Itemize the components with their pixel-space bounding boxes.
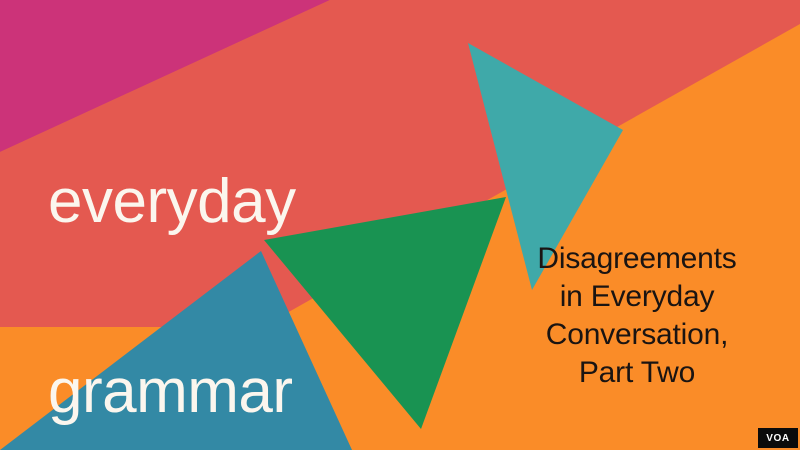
everyday-grammar-title-card: everyday grammar Disagreements in Everyd…: [0, 0, 800, 450]
episode-subtitle: Disagreements in Everyday Conversation, …: [492, 240, 782, 392]
voa-logo-label: VOA: [766, 433, 789, 444]
voa-logo-badge: VOA: [758, 428, 798, 448]
episode-subtitle-line-3: Conversation,: [492, 316, 782, 354]
episode-subtitle-line-1: Disagreements: [492, 240, 782, 278]
episode-subtitle-line-2: in Everyday: [492, 278, 782, 316]
episode-subtitle-line-4: Part Two: [492, 354, 782, 392]
